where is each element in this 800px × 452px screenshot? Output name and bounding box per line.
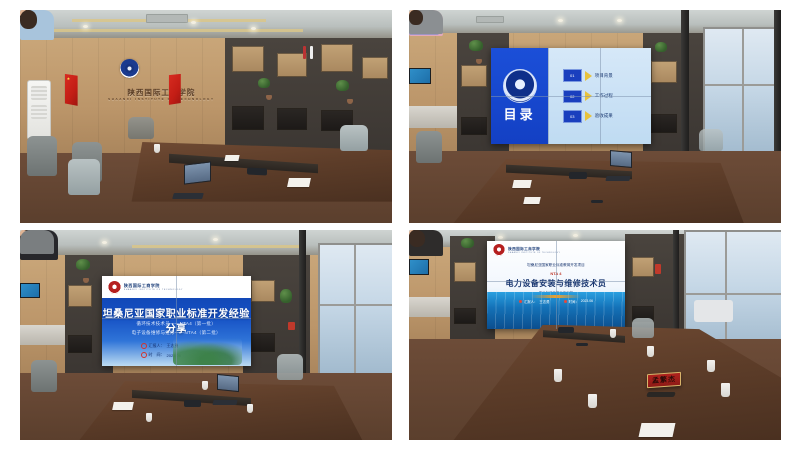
photo-grid: 陕西国际工商学院 SHAANXI INSTITUTE OF TECHNOLOGY… (20, 10, 781, 440)
screen-bezel-seam (487, 281, 625, 282)
shelf-cell (232, 106, 264, 130)
bullet-icon (141, 352, 147, 358)
shelf-cell (251, 333, 275, 352)
slide-decorative-image (173, 338, 241, 365)
document-paper (638, 423, 675, 437)
toc-item: 01 项目背景 (563, 69, 613, 82)
bullet-icon (519, 300, 522, 303)
reception-desk (409, 297, 453, 317)
window-mullion (686, 293, 781, 295)
side-display (409, 68, 431, 84)
ceiling-light-strip (42, 29, 302, 32)
laptop-base (172, 193, 204, 199)
chair (277, 354, 303, 380)
pen (591, 200, 603, 203)
meta-label: 时 间： (149, 352, 165, 358)
paper-cup (610, 329, 616, 338)
flag-star: ★ (67, 77, 71, 81)
shelf-cell (461, 65, 487, 87)
conference-room-scene: 陕西国际工商学院 SHAANXI INSTITUTE OF TECHNOLOGY… (20, 10, 392, 223)
screen-bezel-seam (491, 96, 651, 97)
chair (31, 360, 57, 392)
collage-page: 陕西国际工商学院 SHAANXI INSTITUTE OF TECHNOLOGY… (0, 0, 800, 452)
potted-plant (76, 259, 90, 270)
window (318, 243, 392, 381)
slide-emblem-text: 陕西国际工商学院 SHAANXI INSTITUTE OF TECHNOLOGY (508, 247, 560, 254)
downlight (102, 241, 107, 244)
meta-label: 时间： (569, 299, 579, 304)
conference-room-scene: 陕西国际工商学院 SHAANXI INSTITUTE OF TECHNOLOGY… (409, 230, 781, 440)
slide-emblem-row: 陕西国际工商学院 SHAANXI INSTITUTE OF TECHNOLOGY (493, 244, 560, 256)
side-display (20, 283, 40, 298)
ceiling-light-strip (132, 245, 303, 248)
shelf-cell (68, 335, 92, 353)
bullet-icon (141, 343, 147, 349)
ac-grill (31, 105, 47, 119)
photo-bottom-left[interactable]: 陕西国际工商学院 SHAANXI INSTITUTE OF TECHNOLOGY… (20, 230, 392, 440)
potted-plant (461, 238, 474, 248)
chair (128, 117, 154, 139)
paper-cup (554, 369, 562, 382)
microphone-pod (558, 327, 574, 333)
meta-label: 汇报人： (149, 343, 165, 349)
arrow-icon (585, 111, 592, 121)
slide-header-text: 陕西国际工商学院 SHAANXI INSTITUTE OF TECHNOLOGY (124, 283, 183, 291)
nameplate-stand (646, 392, 676, 397)
conference-room-scene: 目录 01 项目背景 02 工作过程 (409, 10, 781, 223)
laptop-screen (610, 150, 632, 168)
slide-meta-date: 时间： 2023.06 (564, 299, 593, 304)
meta-value: 2023.06 (581, 299, 593, 303)
chair (416, 131, 442, 163)
slide-title: 目录 (491, 104, 549, 123)
microphone-pod (184, 400, 201, 407)
paper-cup (202, 381, 208, 390)
ceiling-vent (476, 16, 504, 23)
pen (576, 343, 588, 346)
paper-cup (588, 394, 597, 408)
downlight (617, 19, 622, 22)
meta-value: 王志勇 (539, 299, 549, 304)
document-paper (112, 402, 134, 410)
slide-emblem-icon (503, 69, 537, 103)
window-mullion (354, 245, 356, 379)
window-mullion (705, 84, 781, 86)
potted-plant (258, 78, 270, 88)
toc-item: 03 验收成果 (563, 110, 613, 123)
shelf-cell (632, 257, 654, 277)
chair (632, 318, 654, 338)
window-mullion (320, 304, 392, 306)
paper-cup (146, 413, 152, 422)
screen-bezel-seam (176, 276, 177, 366)
shelf-cell (321, 44, 353, 72)
shelf-cell (454, 308, 476, 324)
laptop-screen (184, 162, 211, 185)
shelf-cell (251, 280, 275, 302)
slide-emblem-icon (108, 281, 121, 294)
person-body (20, 230, 54, 254)
toc-label: 项目背景 (595, 73, 613, 79)
paper-cup (647, 346, 654, 357)
potted-plant (655, 42, 667, 52)
ac-grill (31, 86, 47, 100)
parked-car (694, 300, 733, 322)
slide-emblem-icon (493, 244, 505, 256)
presentation-screen[interactable]: 陕西国际工商学院 SHAANXI INSTITUTE OF TECHNOLOGY… (102, 276, 251, 366)
document-paper (287, 178, 311, 187)
screen-bezel-seam (556, 241, 557, 329)
book (310, 46, 313, 59)
laptop-base (213, 400, 238, 405)
shelf-cell (651, 114, 677, 133)
side-display (409, 259, 429, 275)
toc-chip: 03 (563, 110, 582, 123)
paper-cup (707, 360, 715, 372)
bullet-icon (564, 300, 567, 303)
presentation-screen[interactable]: 目录 01 项目背景 02 工作过程 (491, 48, 651, 144)
shelf-cell (461, 117, 487, 135)
shelf-cell (232, 46, 264, 72)
nameplate: 孟繁杰 (647, 372, 681, 388)
potted-plant (469, 40, 483, 51)
party-flag (169, 74, 181, 105)
conference-room-scene: 陕西国际工商学院 SHAANXI INSTITUTE OF TECHNOLOGY… (20, 230, 392, 440)
shelf-cell (362, 57, 388, 79)
shelf-cell (68, 285, 92, 307)
person-head (20, 10, 37, 29)
screen-bezel-seam (102, 318, 251, 319)
bookshelf-unit (643, 33, 703, 157)
reception-desk (20, 325, 66, 345)
downlight (558, 19, 563, 22)
downlight (191, 21, 196, 24)
microphone-pod (247, 167, 267, 175)
laptop-base (606, 176, 631, 181)
shelf-cell (651, 61, 677, 83)
paper-cup (247, 404, 253, 413)
potted-plant (336, 80, 349, 91)
ceiling (20, 10, 392, 40)
ceiling-vent (146, 14, 188, 23)
photo-top-left[interactable]: 陕西国际工商学院 SHAANXI INSTITUTE OF TECHNOLOGY… (20, 10, 392, 223)
paper-cup (721, 383, 730, 397)
slide-header-en: SHAANXI INSTITUTE OF TECHNOLOGY (124, 289, 183, 291)
book (655, 264, 661, 274)
reception-desk (409, 106, 461, 128)
meta-label: 汇报人： (524, 299, 538, 304)
nameplate-text: 孟繁杰 (652, 374, 676, 386)
downlight (251, 27, 256, 30)
chair (699, 129, 723, 151)
presentation-screen[interactable]: 陕西国际工商学院 SHAANXI INSTITUTE OF TECHNOLOGY… (487, 241, 625, 329)
flower-pot (266, 95, 272, 100)
slide-emblem-en: SHAANXI INSTITUTE OF TECHNOLOGY (508, 252, 560, 254)
shelf-cell (454, 262, 476, 282)
book (303, 46, 306, 59)
document-paper (512, 180, 532, 188)
microphone-pod (569, 172, 587, 179)
shelf-cell (277, 108, 307, 130)
paper-cup (154, 144, 160, 153)
toc-label: 验收成果 (595, 113, 613, 119)
arrow-icon (585, 71, 592, 81)
document-paper (524, 197, 541, 204)
slide-meta-presenter: 汇报人： 王志勇 (519, 299, 550, 304)
person-head (409, 230, 425, 247)
chair (68, 159, 100, 195)
laptop-screen (217, 374, 239, 392)
photo-top-right[interactable]: 目录 01 项目背景 02 工作过程 (409, 10, 781, 223)
emblem-core (125, 64, 134, 73)
window-mullion (742, 29, 744, 161)
national-flag: ★ (65, 74, 78, 106)
chair (340, 125, 368, 151)
document-paper (224, 155, 239, 161)
person-head (409, 10, 423, 25)
air-conditioner (27, 80, 51, 140)
book (288, 322, 295, 330)
toc-chip: 01 (563, 69, 582, 82)
chair (27, 136, 57, 176)
potted-plant (280, 289, 292, 303)
photo-bottom-right[interactable]: 陕西国际工商学院 SHAANXI INSTITUTE OF TECHNOLOGY… (409, 230, 781, 440)
